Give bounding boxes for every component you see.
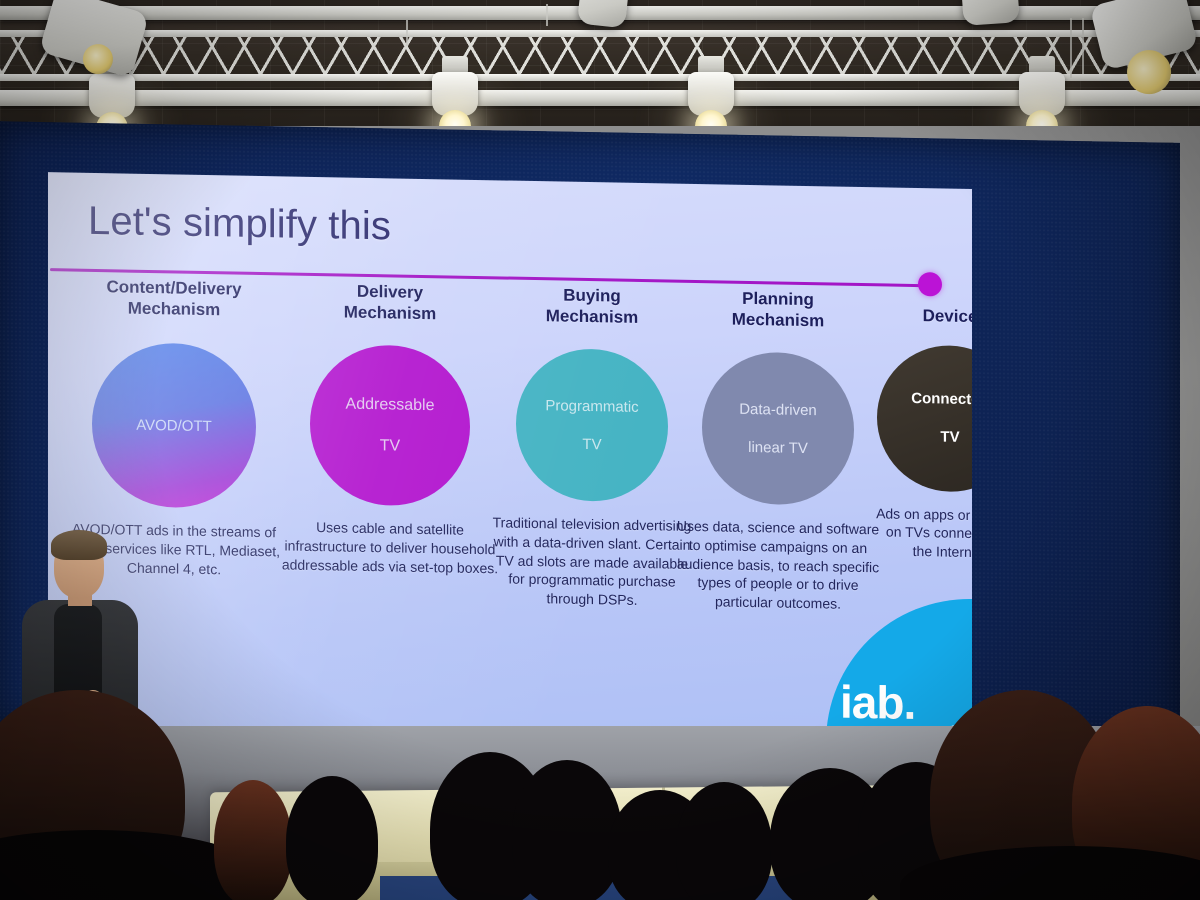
column-device: Device Connected TV Ads on apps or strea… [860,291,972,563]
column-heading: Planning Mechanism [674,288,882,333]
column-heading-line2: Mechanism [60,297,288,322]
bubble-line1: Data-driven [739,399,817,420]
column-heading-line2: Mechanism [488,305,696,330]
audience-head [512,760,622,900]
column-heading-line2: Mechanism [674,308,882,333]
audience-head [286,776,378,900]
bubble-line1: AVOD/OTT [136,416,212,437]
bubble-line2: TV [346,435,435,457]
bubble-line2: linear TV [739,438,817,459]
column-planning: Planning Mechanism Data-driven linear TV… [674,288,882,614]
rigging-cable [1082,18,1084,74]
slide-title: Let's simplify this [88,199,391,250]
bubble-line1: Addressable [346,394,435,416]
column-group: Content/Delivery Mechanism AVOD/OTT AVOD… [48,276,972,733]
bubble-addressable-tv: Addressable TV [310,344,470,507]
column-heading: Buying Mechanism [488,284,696,329]
light-shell [960,0,1020,26]
stage-light-hanging-fixture-2 [960,0,1020,26]
bubble-line1: Programmatic [545,396,638,417]
conference-photo: Let's simplify this Content/Delivery Mec… [0,0,1200,900]
rigging-cable [406,20,408,46]
column-description: Uses data, science and software to optim… [674,517,882,614]
column-heading-line1: Device [860,305,972,329]
projection-screen: Let's simplify this Content/Delivery Mec… [0,121,1180,749]
audience-head [214,780,292,900]
column-buying: Buying Mechanism Programmatic TV Traditi… [488,284,696,610]
bubble-connected-tv: Connected TV [877,344,972,493]
column-description: Ads on apps or streams on TVs connected … [875,504,972,563]
iab-logo-wordmark: iab. [840,675,915,730]
column-description: Uses cable and satellite infrastructure … [280,518,500,578]
column-heading-line2: Mechanism [280,301,500,326]
presentation-slide: Let's simplify this Content/Delivery Mec… [48,172,972,745]
bubble-line2: TV [545,434,638,455]
rigging-cable [546,4,548,26]
bubble-line2: TV [911,427,972,448]
rigging-cable [1070,18,1072,78]
stage-light-hanging-fixture [577,0,631,28]
bubble-data-driven-linear-tv: Data-driven linear TV [702,352,854,507]
column-heading: Delivery Mechanism [280,280,500,326]
column-description: Traditional television advertising with … [488,514,696,611]
column-delivery: Delivery Mechanism Addressable TV Uses c… [280,280,500,577]
presenter-hair [51,530,107,560]
truss-lattice [0,34,1200,74]
audience-head [676,782,772,900]
bubble-line1: Connected [911,389,972,410]
column-heading: Content/Delivery Mechanism [60,276,288,322]
truss-top-rail [0,30,1200,37]
column-heading: Device [860,291,972,329]
bubble-programmatic-tv: Programmatic TV [516,348,668,503]
light-shell [577,0,631,28]
bubble-avod-ott: AVOD/OTT [92,342,256,509]
